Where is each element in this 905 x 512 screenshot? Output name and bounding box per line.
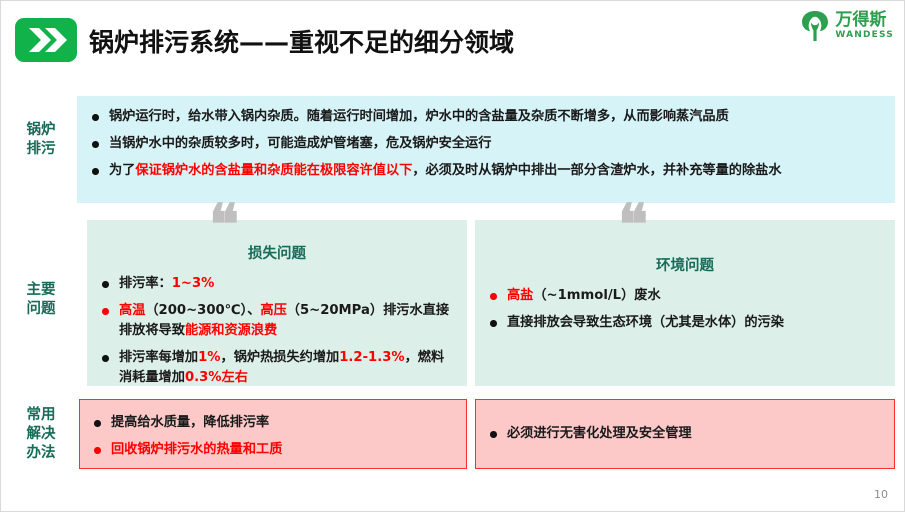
bullet-list-solutions-left: 提高给水质量，降低排污率 回收锅炉排污水的热量和工质 (92, 413, 452, 460)
bullet-list-loss-problems: 排污率：1~3% 高温（200~300℃）、高压（5~20MPa）排污水直接排放… (100, 274, 453, 388)
bullet-text: 提高给水质量，降低排污率 (111, 415, 269, 430)
wandess-leaf-logo-icon (800, 10, 830, 42)
brand-logo: 万得斯 WANDESS (800, 10, 894, 42)
bullet-text-highlight: 保证锅炉水的含盐量和杂质能在极限容许值以下 (135, 163, 412, 178)
bullet-text: 当锅炉水中的杂质较多时，可能造成炉管堵塞，危及锅炉安全运行 (109, 136, 491, 151)
panel-boiler-blowdown: 锅炉运行时，给水带入锅内杂质。随着运行时间增加，炉水中的含盐量及杂质不断增多，从… (77, 96, 895, 203)
list-item: 直接排放会导致生态环境（尤其是水体）的污染 (488, 313, 881, 333)
brand-text: 万得斯 WANDESS (835, 12, 894, 40)
bullet-text: 必须进行无害化处理及安全管理 (507, 426, 692, 441)
bullet-text-highlight: 回收锅炉排污水的热量和工质 (111, 442, 282, 457)
panel-environmental-problems: 环境问题 高盐（~1mmol/L）废水 直接排放会导致生态环境（尤其是水体）的污… (475, 220, 895, 386)
list-item: 必须进行无害化处理及安全管理 (488, 424, 880, 444)
bullet-text: ，锅炉热损失约增加 (221, 350, 340, 365)
row-label-boiler-blowdown: 锅炉 排污 (9, 121, 73, 159)
bullet-text-highlight: 高盐 (507, 288, 533, 303)
bullet-text-highlight: 0.3%左右 (185, 370, 248, 385)
page-number: 10 (874, 488, 888, 501)
double-chevron-right-icon (15, 18, 77, 62)
list-item: 提高给水质量，降低排污率 (92, 413, 452, 433)
bullet-list-environmental-problems: 高盐（~1mmol/L）废水 直接排放会导致生态环境（尤其是水体）的污染 (488, 286, 881, 333)
list-item: 排污率每增加1%，锅炉热损失约增加1.2-1.3%，燃料消耗量增加0.3%左右 (100, 348, 453, 388)
bullet-text: 锅炉运行时，给水带入锅内杂质。随着运行时间增加，炉水中的含盐量及杂质不断增多，从… (109, 109, 729, 124)
quote-decoration-icon: ❝ (209, 197, 235, 253)
bullet-text: 为了 (109, 163, 135, 178)
bullet-text-highlight: 1.2-1.3% (339, 350, 404, 365)
bullet-text: （200~300℃）、 (145, 303, 260, 318)
list-item: 高温（200~300℃）、高压（5~20MPa）排污水直接排放将导致能源和资源浪… (100, 301, 453, 341)
panel-heading-loss-problems: 损失问题 (87, 242, 467, 263)
bullet-text-highlight: 1% (198, 350, 220, 365)
brand-name-cn: 万得斯 (835, 12, 894, 29)
list-item: 高盐（~1mmol/L）废水 (488, 286, 881, 306)
list-item: 排污率：1~3% (100, 274, 453, 294)
panel-heading-environmental-problems: 环境问题 (475, 254, 895, 275)
list-item: 为了保证锅炉水的含盐量和杂质能在极限容许值以下，必须及时从锅炉中排出一部分含渣炉… (90, 161, 881, 181)
list-item: 锅炉运行时，给水带入锅内杂质。随着运行时间增加，炉水中的含盐量及杂质不断增多，从… (90, 107, 881, 127)
row-label-main-problems: 主要 问题 (9, 281, 73, 319)
brand-name-en: WANDESS (835, 31, 894, 40)
bullet-list-boiler-blowdown: 锅炉运行时，给水带入锅内杂质。随着运行时间增加，炉水中的含盐量及杂质不断增多，从… (90, 107, 881, 181)
bullet-text: 直接排放会导致生态环境（尤其是水体）的污染 (507, 315, 784, 330)
bullet-text: （~1mmol/L）废水 (533, 288, 660, 303)
panel-solutions-left: 提高给水质量，降低排污率 回收锅炉排污水的热量和工质 (79, 399, 467, 469)
panel-solutions-right: 必须进行无害化处理及安全管理 (475, 399, 895, 469)
bullet-text-highlight: 高压 (260, 303, 286, 318)
slide-header: 锅炉排污系统——重视不足的细分领域 万得斯 WANDESS (1, 1, 905, 79)
bullet-text-highlight: 能源和资源浪费 (185, 323, 277, 338)
bullet-text-highlight: 1~3% (172, 276, 215, 291)
panel-loss-problems: 损失问题 排污率：1~3% 高温（200~300℃）、高压（5~20MPa）排污… (87, 220, 467, 386)
bullet-text-highlight: 高温 (119, 303, 145, 318)
bullet-text: ，必须及时从锅炉中排出一部分含渣炉水，并补充等量的除盐水 (412, 163, 781, 178)
bullet-text: 排污率： (119, 276, 172, 291)
bullet-text: 排污率每增加 (119, 350, 198, 365)
list-item: 当锅炉水中的杂质较多时，可能造成炉管堵塞，危及锅炉安全运行 (90, 134, 881, 154)
bullet-list-solutions-right: 必须进行无害化处理及安全管理 (488, 424, 880, 444)
quote-decoration-icon: ❝ (618, 197, 644, 253)
page-title: 锅炉排污系统——重视不足的细分领域 (89, 23, 514, 59)
slide-canvas: 锅炉排污系统——重视不足的细分领域 万得斯 WANDESS 锅炉 排污 锅炉运行… (0, 0, 905, 512)
list-item: 回收锅炉排污水的热量和工质 (92, 440, 452, 460)
row-label-common-solutions: 常用 解决 办法 (9, 406, 73, 463)
